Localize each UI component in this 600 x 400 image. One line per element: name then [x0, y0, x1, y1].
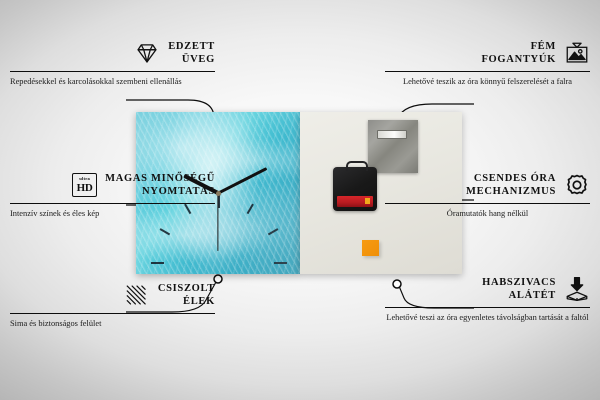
feature-tempered-glass: EDZETT ÜVEG Repedésekkel és karcolásokka…	[10, 40, 215, 87]
feature-title: EDZETT ÜVEG	[168, 40, 215, 67]
feature-rule	[385, 203, 590, 204]
feature-head: EDZETT ÜVEG	[10, 40, 215, 67]
feature-head: CSISZOLT ÉLEK	[10, 282, 215, 309]
feature-title: MAGAS MINŐSÉGŰ NYOMTATÁS	[105, 172, 215, 199]
feature-silent-mechanism: CSENDES ÓRA MECHANIZMUS Óramutatók hang …	[385, 172, 590, 219]
feature-head: HABSZIVACS ALÁTÉT	[385, 276, 590, 303]
foam-pad	[362, 240, 379, 256]
feature-head: FÉM FOGANTYÚK	[385, 40, 590, 67]
picture-hanger-icon	[564, 40, 590, 66]
feature-title: CSENDES ÓRA MECHANIZMUS	[466, 172, 556, 199]
feature-desc: Óramutatók hang nélkül	[385, 208, 590, 219]
feature-polished-edges: CSISZOLT ÉLEK Sima és biztonságos felüle…	[10, 282, 215, 329]
feature-rule	[10, 71, 215, 72]
feature-desc: Sima és biztonságos felület	[10, 318, 215, 329]
feature-desc: Lehetővé teszi az óra egyenletes távolsá…	[385, 312, 590, 323]
feature-desc: Lehetővé teszik az óra könnyű felszerelé…	[385, 76, 590, 87]
feature-foam-pad: HABSZIVACS ALÁTÉT Lehetővé teszi az óra …	[385, 276, 590, 323]
feature-rule	[385, 307, 590, 308]
connector-dot-edge	[214, 275, 222, 283]
polished-edge-icon	[124, 282, 150, 308]
feature-rule	[10, 203, 215, 204]
clock-mechanism-box	[333, 167, 377, 211]
feature-title: CSISZOLT ÉLEK	[158, 282, 215, 309]
metal-hanger-plate	[368, 120, 418, 173]
infographic-stage: EDZETT ÜVEG Repedésekkel és karcolásokka…	[0, 0, 600, 400]
feature-title: FÉM FOGANTYÚK	[481, 40, 556, 67]
feature-rule	[385, 71, 590, 72]
feature-title: HABSZIVACS ALÁTÉT	[482, 276, 556, 303]
diamond-icon	[134, 40, 160, 66]
gear-icon	[564, 172, 590, 198]
feature-hd-print: ultra HD MAGAS MINŐSÉGŰ NYOMTATÁS Intenz…	[10, 172, 215, 219]
foam-pad-icon	[564, 276, 590, 302]
battery	[337, 196, 373, 207]
ultra-hd-icon: ultra HD	[72, 173, 97, 197]
feature-rule	[10, 313, 215, 314]
feature-metal-handles: FÉM FOGANTYÚK Lehetővé teszik az óra kön…	[385, 40, 590, 87]
feature-head: CSENDES ÓRA MECHANIZMUS	[385, 172, 590, 199]
feature-desc: Repedésekkel és karcolásokkal szembeni e…	[10, 76, 215, 87]
feature-head: ultra HD MAGAS MINŐSÉGŰ NYOMTATÁS	[10, 172, 215, 199]
feature-desc: Intenzív színek és éles kép	[10, 208, 215, 219]
